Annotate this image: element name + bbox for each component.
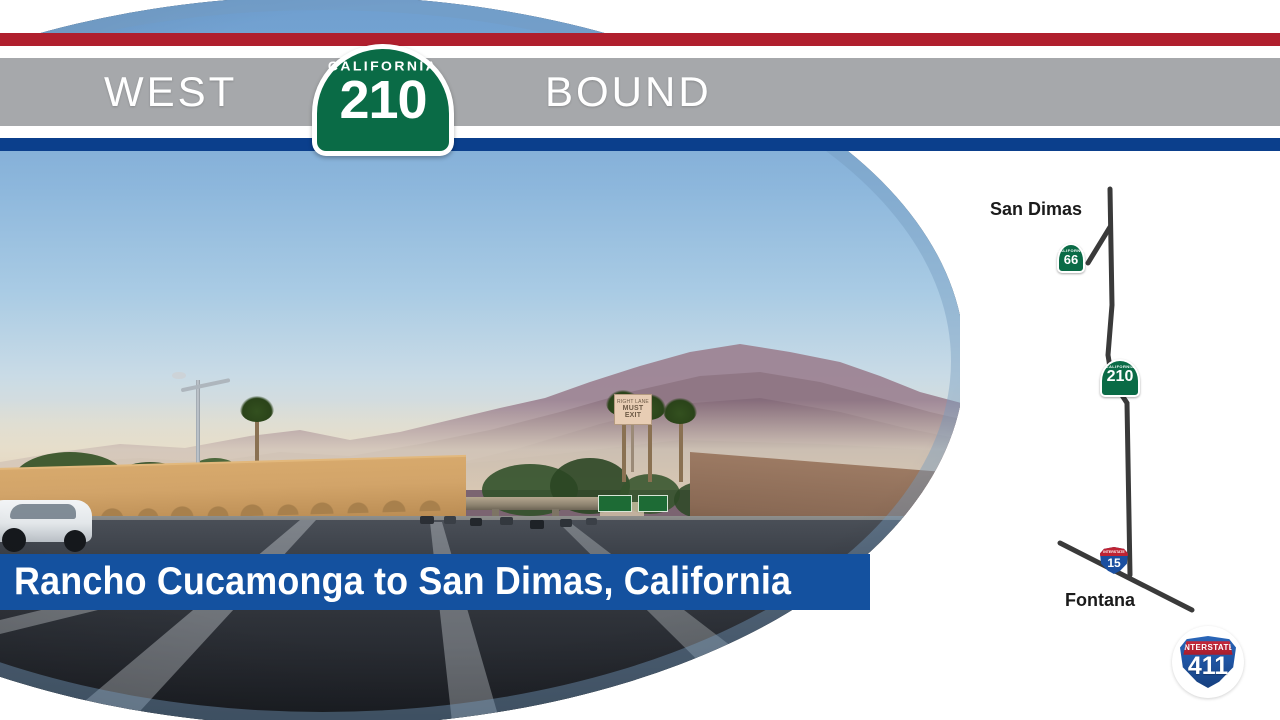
shield-route-number: 15 bbox=[1107, 557, 1120, 569]
shield-banner-text: INTERSTATE bbox=[1100, 547, 1128, 556]
interstate-shield-body: INTERSTATE 15 bbox=[1100, 547, 1128, 574]
silver-car-window bbox=[842, 616, 952, 642]
wheel bbox=[2, 528, 26, 552]
sign-post bbox=[631, 424, 634, 472]
title-text: Rancho Cucamonga to San Dimas, Californi… bbox=[14, 560, 791, 604]
distant-traffic bbox=[400, 498, 700, 538]
map-shield-ca-210: CALIFORNIA 210 bbox=[1100, 359, 1140, 397]
map-label-fontana: Fontana bbox=[1065, 590, 1135, 611]
header-stripe-blue bbox=[0, 138, 1280, 151]
title-banner: Rancho Cucamonga to San Dimas, Californi… bbox=[0, 554, 870, 610]
map-shield-i-15: INTERSTATE 15 bbox=[1100, 547, 1128, 574]
map-label-san-dimas: San Dimas bbox=[990, 199, 1082, 220]
ca-shield-body: CALIFORNIA 210 bbox=[312, 44, 454, 156]
palm-fronds bbox=[240, 396, 274, 422]
header-stripe-white bbox=[0, 126, 1280, 138]
palm-fronds bbox=[663, 398, 697, 424]
wheel bbox=[826, 654, 870, 698]
video-frame: RIGHT LANE MUST EXIT bbox=[0, 0, 1280, 720]
shield-number: 411 bbox=[1180, 654, 1236, 679]
header-stripe-red bbox=[0, 33, 1280, 46]
interstate-shield-icon: INTERSTATE 411 bbox=[1180, 636, 1236, 688]
shield-route-number: 66 bbox=[1064, 253, 1078, 266]
sign-line-3: EXIT bbox=[625, 412, 641, 419]
route-shield-ca-210: CALIFORNIA 210 bbox=[312, 44, 454, 156]
interstate-411-logo[interactable]: INTERSTATE 411 bbox=[1172, 626, 1244, 698]
white-car-window bbox=[10, 504, 76, 519]
right-lane-must-exit-sign: RIGHT LANE MUST EXIT bbox=[614, 394, 652, 425]
shield-route-number: 210 bbox=[339, 73, 426, 127]
direction-label-west: WEST bbox=[104, 58, 237, 126]
shield-state-name: CALIFORNIA bbox=[328, 59, 438, 74]
sign-line-2: MUST bbox=[623, 405, 644, 412]
direction-label-bound: BOUND bbox=[545, 58, 712, 126]
header-stripe-white bbox=[0, 46, 1280, 58]
wheel bbox=[64, 530, 86, 552]
shield-route-number: 210 bbox=[1107, 369, 1134, 385]
streetlight-lamp bbox=[172, 372, 186, 379]
map-shield-ca-66: CALIFORNIA 66 bbox=[1057, 243, 1085, 273]
